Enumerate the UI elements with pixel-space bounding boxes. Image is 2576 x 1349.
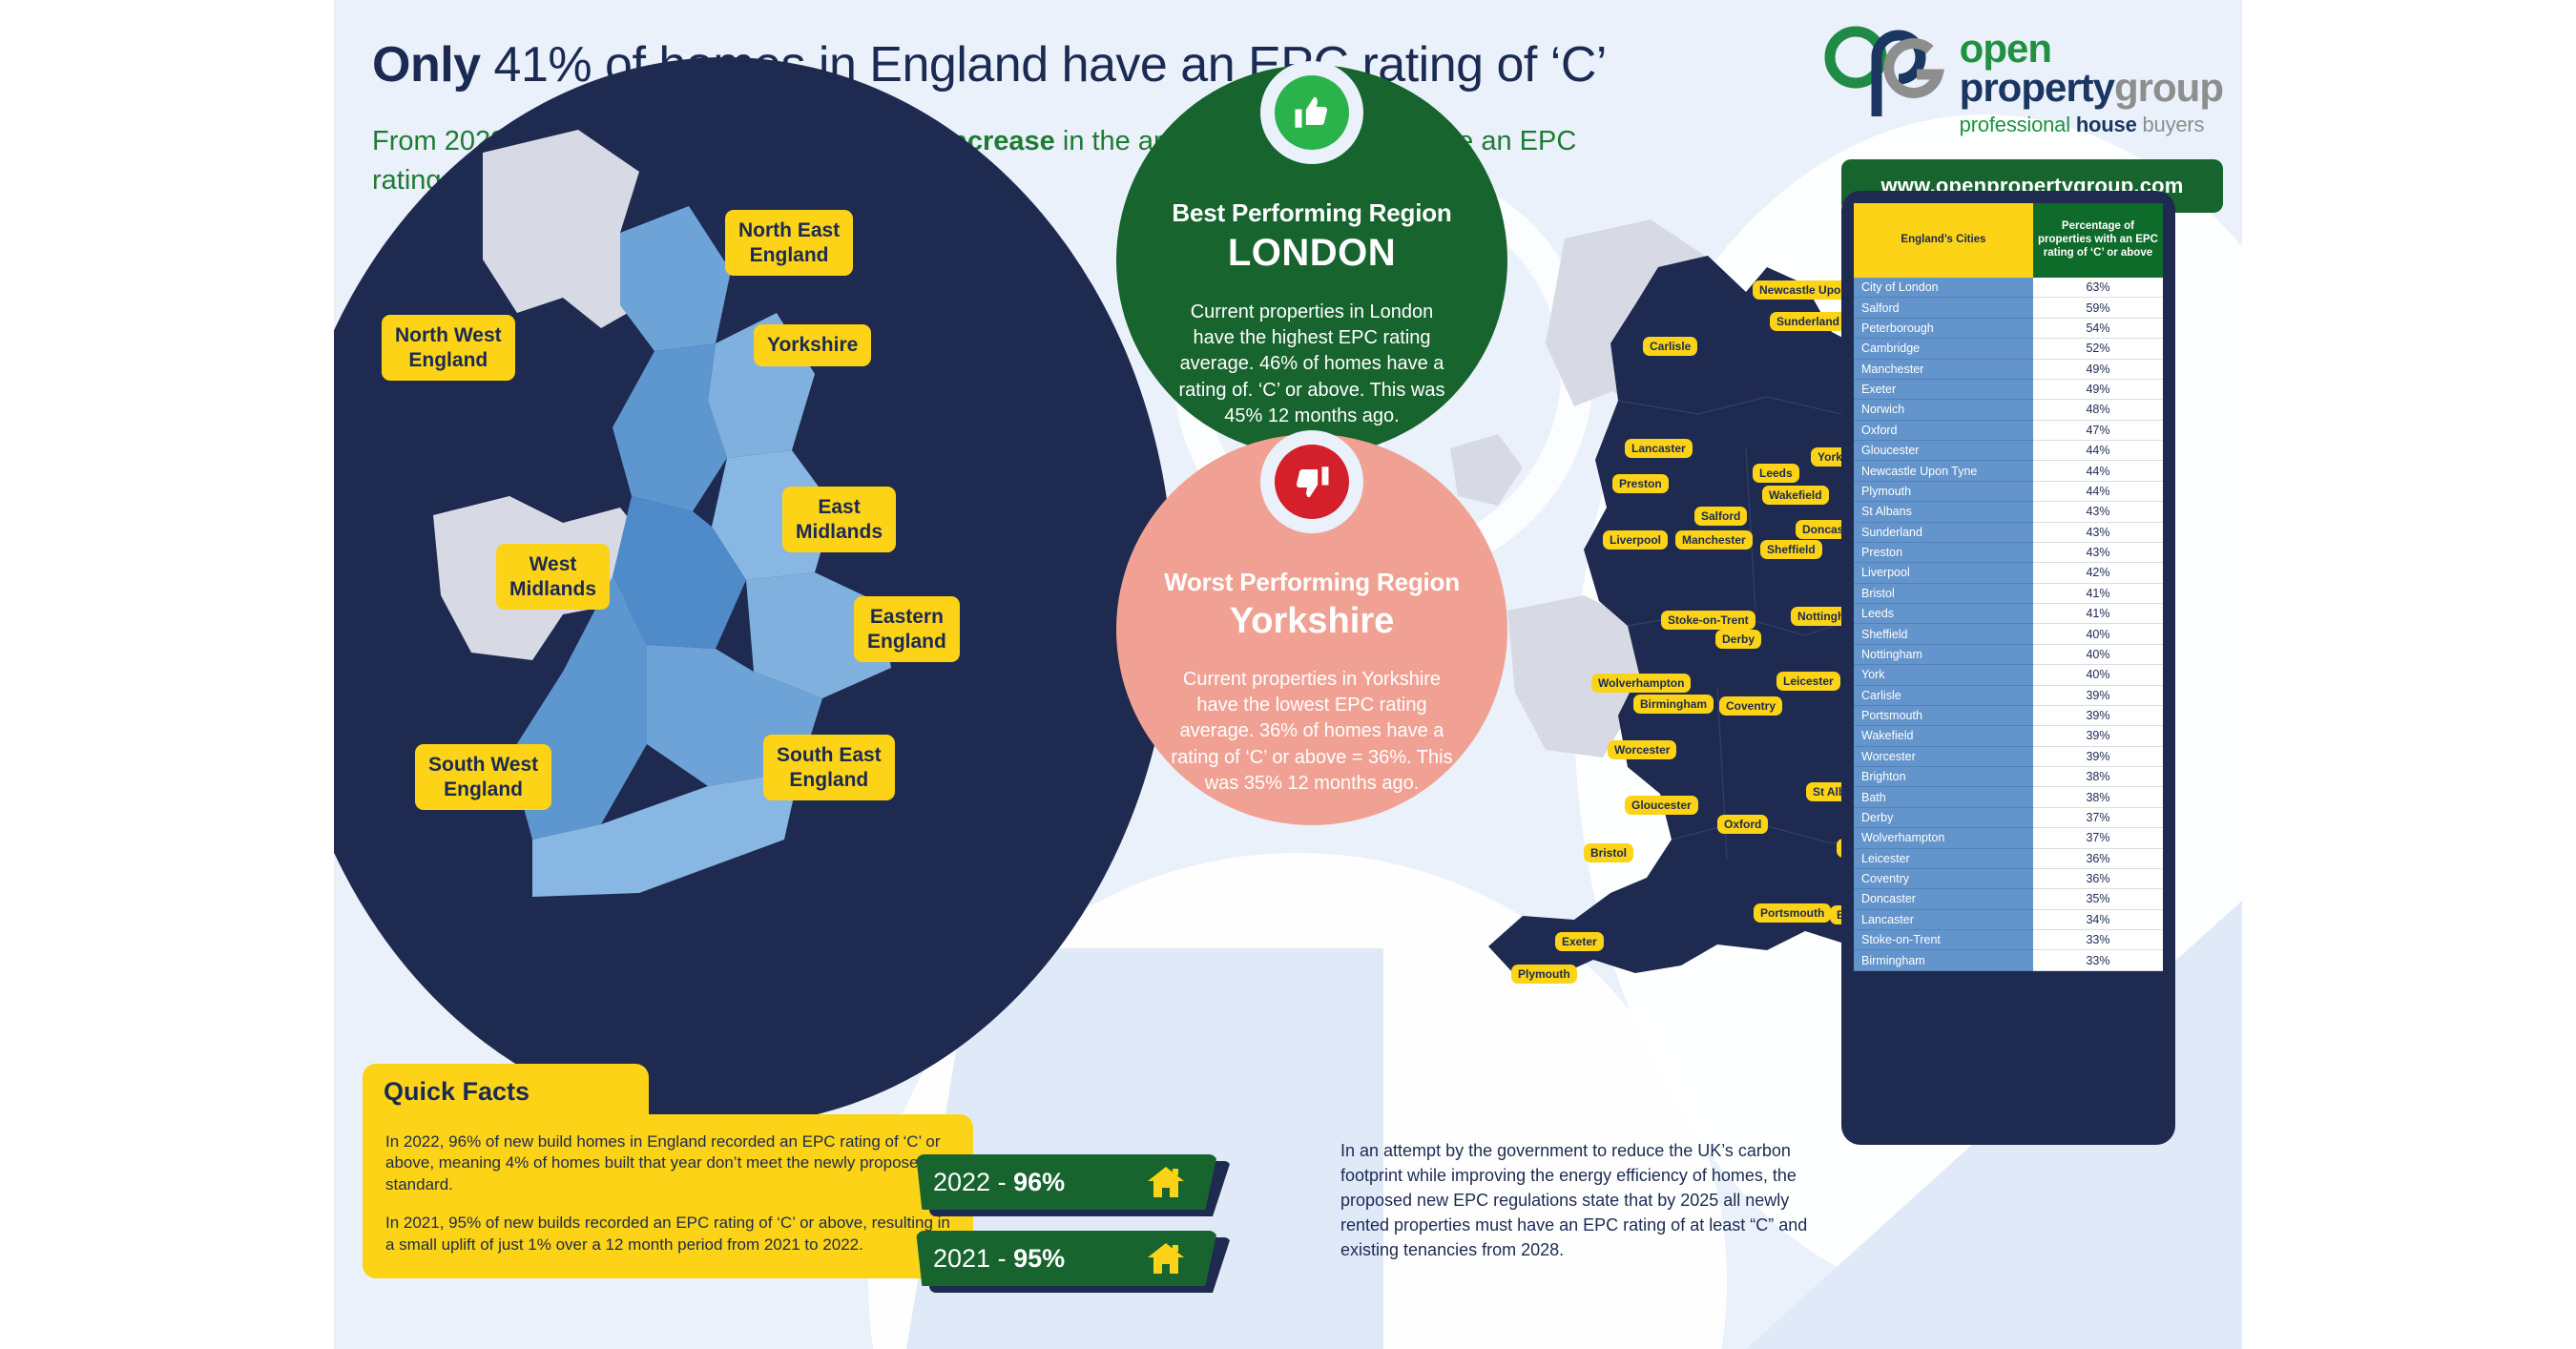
logo-line-propertygroup: propertygroup (1960, 68, 2223, 109)
city-pin-coventry[interactable]: Coventry (1719, 696, 1782, 716)
cell-city: Birmingham (1854, 950, 2033, 970)
table-header-row: England’s Cities Percentage of propertie… (1854, 203, 2163, 278)
column-header-city: England’s Cities (1854, 203, 2033, 278)
cell-city: City of London (1854, 278, 2033, 298)
quick-facts-body: In 2022, 96% of new build homes in Engla… (363, 1114, 973, 1278)
thumbs-down-icon (1275, 445, 1349, 519)
quick-fact-2: In 2021, 95% of new builds recorded an E… (385, 1213, 950, 1256)
logo-line-open: open (1960, 29, 2223, 68)
opg-monogram-icon (1822, 21, 1946, 134)
cell-percentage: 36% (2033, 868, 2163, 888)
cell-city: Doncaster (1854, 889, 2033, 909)
tagline-professional: professional (1960, 113, 2076, 136)
cell-city: Plymouth (1854, 481, 2033, 501)
city-pin-exeter[interactable]: Exeter (1555, 932, 1604, 951)
region-label-south-west-england[interactable]: South West England (415, 744, 551, 810)
cell-percentage: 49% (2033, 359, 2163, 379)
quick-facts-panel: Quick Facts In 2022, 96% of new build ho… (363, 1064, 973, 1278)
city-pin-preston[interactable]: Preston (1612, 474, 1669, 493)
cell-city: Leicester (1854, 848, 2033, 868)
table-row: Plymouth44% (1854, 481, 2163, 501)
cell-percentage: 44% (2033, 441, 2163, 461)
city-pin-leeds[interactable]: Leeds (1753, 464, 1799, 483)
house-icon (1147, 1165, 1185, 1199)
city-pin-manchester[interactable]: Manchester (1675, 530, 1753, 550)
table-row: Newcastle Upon Tyne44% (1854, 461, 2163, 481)
cell-percentage: 52% (2033, 339, 2163, 359)
cell-percentage: 40% (2033, 644, 2163, 664)
cell-percentage: 37% (2033, 828, 2163, 848)
ribbon-year: 2022 - (933, 1168, 1013, 1196)
city-pin-portsmouth[interactable]: Portsmouth (1754, 903, 1831, 923)
cell-percentage: 38% (2033, 767, 2163, 787)
region-label-south-east-england[interactable]: South East England (763, 735, 895, 800)
cell-city: Derby (1854, 807, 2033, 827)
cell-percentage: 47% (2033, 420, 2163, 440)
table-row: Carlisle39% (1854, 685, 2163, 705)
cell-percentage: 59% (2033, 298, 2163, 318)
cell-percentage: 54% (2033, 318, 2163, 338)
region-label-west-midlands[interactable]: West Midlands (496, 544, 610, 610)
region-label-north-east-england[interactable]: North East England (725, 210, 853, 276)
table-row: Liverpool42% (1854, 563, 2163, 583)
cell-city: Sheffield (1854, 624, 2033, 644)
cell-city: Wolverhampton (1854, 828, 2033, 848)
cell-percentage: 49% (2033, 379, 2163, 399)
thumbs-up-badge (1260, 61, 1363, 164)
infographic-root: Only 41% of homes in England have an EPC… (0, 0, 2576, 1349)
logo-group: group (2114, 65, 2223, 110)
cell-percentage: 48% (2033, 400, 2163, 420)
cell-percentage: 43% (2033, 542, 2163, 562)
cell-city: St Albans (1854, 502, 2033, 522)
city-pin-leicester[interactable]: Leicester (1776, 672, 1840, 691)
ribbon-label-2022: 2022 - 96% (933, 1168, 1065, 1197)
ribbon-2021: 2021 - 95% (916, 1231, 1231, 1286)
table-row: Peterborough54% (1854, 318, 2163, 338)
cell-percentage: 40% (2033, 665, 2163, 685)
ribbon-year: 2021 - (933, 1244, 1013, 1273)
city-pin-salford[interactable]: Salford (1694, 507, 1747, 526)
table-row: Cambridge52% (1854, 339, 2163, 359)
cell-percentage: 40% (2033, 624, 2163, 644)
table-row: Birmingham33% (1854, 950, 2163, 970)
cities-table-card: England’s Cities Percentage of propertie… (1841, 191, 2175, 1145)
best-region-body: Current properties in London have the hi… (1169, 300, 1455, 429)
city-pin-bristol[interactable]: Bristol (1584, 843, 1633, 862)
cell-city: Manchester (1854, 359, 2033, 379)
table-row: Gloucester44% (1854, 441, 2163, 461)
table-row: Leicester36% (1854, 848, 2163, 868)
cell-city: Portsmouth (1854, 705, 2033, 725)
logo-property: property (1960, 65, 2114, 110)
table-row: Brighton38% (1854, 767, 2163, 787)
region-label-eastern-england[interactable]: Eastern England (854, 596, 960, 662)
cell-city: Bath (1854, 787, 2033, 807)
cell-percentage: 33% (2033, 930, 2163, 950)
table-row: St Albans43% (1854, 502, 2163, 522)
city-pin-lancaster[interactable]: Lancaster (1625, 439, 1693, 458)
thumbs-up-icon (1275, 75, 1349, 150)
cell-percentage: 44% (2033, 481, 2163, 501)
cell-city: Newcastle Upon Tyne (1854, 461, 2033, 481)
city-pin-gloucester[interactable]: Gloucester (1625, 796, 1698, 815)
cell-city: Oxford (1854, 420, 2033, 440)
cell-city: Coventry (1854, 868, 2033, 888)
table-row: Sunderland43% (1854, 522, 2163, 542)
cell-percentage: 36% (2033, 848, 2163, 868)
table-row: Lancaster34% (1854, 909, 2163, 929)
cities-epc-table: England’s Cities Percentage of propertie… (1854, 203, 2163, 971)
table-row: Coventry36% (1854, 868, 2163, 888)
cell-percentage: 37% (2033, 807, 2163, 827)
city-pin-birmingham[interactable]: Birmingham (1633, 695, 1714, 714)
city-pin-stoke-on-trent[interactable]: Stoke-on-Trent (1661, 611, 1755, 630)
cell-city: Gloucester (1854, 441, 2033, 461)
quick-facts-title: Quick Facts (363, 1064, 649, 1114)
worst-region-body: Current properties in Yorkshire have the… (1169, 667, 1455, 797)
table-row: York40% (1854, 665, 2163, 685)
cell-city: Bristol (1854, 583, 2033, 603)
cell-city: Cambridge (1854, 339, 2033, 359)
tagline-house: house (2076, 113, 2143, 136)
cell-city: York (1854, 665, 2033, 685)
city-pin-oxford[interactable]: Oxford (1717, 815, 1768, 834)
cell-city: Brighton (1854, 767, 2033, 787)
table-row: Derby37% (1854, 807, 2163, 827)
table-row: Leeds41% (1854, 604, 2163, 624)
logo-tagline: professional house buyers (1960, 109, 2223, 140)
cell-percentage: 44% (2033, 461, 2163, 481)
cell-city: Liverpool (1854, 563, 2033, 583)
cell-city: Peterborough (1854, 318, 2033, 338)
region-label-east-midlands[interactable]: East Midlands (782, 487, 896, 552)
table-row: Oxford47% (1854, 420, 2163, 440)
ribbon-value: 95% (1013, 1244, 1065, 1273)
content-panel: Only 41% of homes in England have an EPC… (334, 0, 2242, 1349)
city-pin-plymouth[interactable]: Plymouth (1511, 965, 1577, 984)
city-pin-sheffield[interactable]: Sheffield (1760, 540, 1822, 559)
column-header-percentage: Percentage of properties with an EPC rat… (2033, 203, 2163, 278)
cell-city: Sunderland (1854, 522, 2033, 542)
cell-percentage: 33% (2033, 950, 2163, 970)
city-pin-sunderland[interactable]: Sunderland (1770, 312, 1846, 331)
thumbs-down-badge (1260, 430, 1363, 533)
city-pin-carlisle[interactable]: Carlisle (1643, 337, 1697, 356)
cell-city: Salford (1854, 298, 2033, 318)
region-label-yorkshire[interactable]: Yorkshire (754, 324, 871, 366)
table-row: Norwich48% (1854, 400, 2163, 420)
cell-city: Worcester (1854, 746, 2033, 766)
table-row: Wolverhampton37% (1854, 828, 2163, 848)
city-pin-wakefield[interactable]: Wakefield (1762, 486, 1829, 505)
brand-logo: open propertygroup professional house bu… (1689, 21, 2223, 213)
cell-city: Exeter (1854, 379, 2033, 399)
table-row: Wakefield39% (1854, 726, 2163, 746)
cell-percentage: 38% (2033, 787, 2163, 807)
city-pin-worcester[interactable]: Worcester (1608, 740, 1676, 759)
cell-percentage: 41% (2033, 583, 2163, 603)
quick-fact-1: In 2022, 96% of new build homes in Engla… (385, 1131, 950, 1195)
cell-percentage: 39% (2033, 746, 2163, 766)
cell-city: Preston (1854, 542, 2033, 562)
cell-city: Norwich (1854, 400, 2033, 420)
ribbon-value: 96% (1013, 1168, 1065, 1196)
cell-percentage: 43% (2033, 502, 2163, 522)
city-pin-wolverhampton[interactable]: Wolverhampton (1591, 674, 1691, 693)
cell-percentage: 42% (2033, 563, 2163, 583)
cell-city: Carlisle (1854, 685, 2033, 705)
table-row: Sheffield40% (1854, 624, 2163, 644)
cell-percentage: 35% (2033, 889, 2163, 909)
cell-city: Stoke-on-Trent (1854, 930, 2033, 950)
cell-percentage: 39% (2033, 705, 2163, 725)
table-row: Portsmouth39% (1854, 705, 2163, 725)
table-row: Bath38% (1854, 787, 2163, 807)
cell-percentage: 43% (2033, 522, 2163, 542)
ribbon-bar: 2021 - 95% (916, 1231, 1217, 1286)
cell-percentage: 39% (2033, 685, 2163, 705)
ribbon-2022: 2022 - 96% (916, 1154, 1231, 1210)
table-row: Doncaster35% (1854, 889, 2163, 909)
cell-city: Lancaster (1854, 909, 2033, 929)
cell-percentage: 41% (2033, 604, 2163, 624)
cell-percentage: 34% (2033, 909, 2163, 929)
cell-city: Nottingham (1854, 644, 2033, 664)
cell-city: Leeds (1854, 604, 2033, 624)
city-pin-derby[interactable]: Derby (1715, 630, 1761, 649)
table-row: Preston43% (1854, 542, 2163, 562)
city-pin-liverpool[interactable]: Liverpool (1603, 530, 1668, 550)
cell-percentage: 63% (2033, 278, 2163, 298)
table-row: Salford59% (1854, 298, 2163, 318)
regulation-note: In an attempt by the government to reduc… (1340, 1138, 1837, 1262)
tagline-buyers: buyers (2143, 113, 2205, 136)
table-row: Exeter49% (1854, 379, 2163, 399)
ribbon-bar: 2022 - 96% (916, 1154, 1217, 1210)
region-label-north-west-england[interactable]: North West England (382, 315, 515, 381)
table-body: City of London63%Salford59%Peterborough5… (1854, 278, 2163, 970)
table-row: Bristol41% (1854, 583, 2163, 603)
table-row: Stoke-on-Trent33% (1854, 930, 2163, 950)
table-row: Manchester49% (1854, 359, 2163, 379)
table-row: Nottingham40% (1854, 644, 2163, 664)
table-row: City of London63% (1854, 278, 2163, 298)
cell-percentage: 39% (2033, 726, 2163, 746)
house-icon (1147, 1241, 1185, 1276)
cell-city: Wakefield (1854, 726, 2033, 746)
table-row: Worcester39% (1854, 746, 2163, 766)
ribbon-label-2021: 2021 - 95% (933, 1244, 1065, 1274)
